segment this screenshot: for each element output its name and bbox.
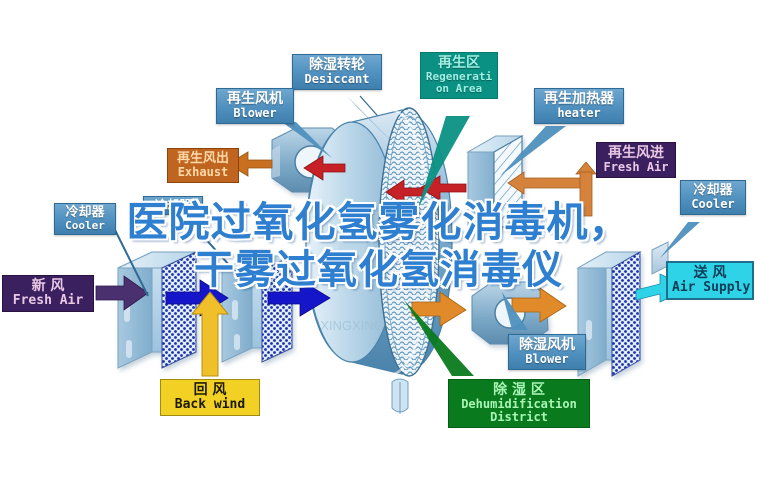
label-cooler-left-en: Cooler bbox=[58, 220, 112, 232]
watermark: XINGXING bbox=[320, 318, 384, 333]
label-regeneration-area-cn: 再生区 bbox=[424, 56, 494, 71]
label-fresh-air-en: Fresh Air bbox=[7, 294, 89, 308]
label-regen-fresh-air-en: Fresh Air bbox=[601, 161, 671, 174]
label-cooler-right[interactable]: 冷却器 Cooler bbox=[680, 180, 746, 215]
label-dehum-blower-en: Blower bbox=[513, 353, 581, 366]
diagram-canvas: XINGXING bbox=[0, 0, 757, 488]
label-desiccant-wheel-cn: 除湿转轮 bbox=[297, 58, 377, 73]
label-cooler-mid-cn: 冷却器 bbox=[147, 199, 199, 212]
label-back-wind-en: Back wind bbox=[165, 398, 255, 412]
label-regeneration-area[interactable]: 再生区 Regenerati on Area bbox=[420, 52, 498, 99]
label-regeneration-blower[interactable]: 再生风机 Blower bbox=[216, 88, 294, 124]
label-dehum-blower-cn: 除湿风机 bbox=[513, 338, 581, 353]
label-air-supply-en: Air Supply bbox=[672, 281, 748, 295]
cooler-unit-mid bbox=[222, 256, 292, 362]
label-exhaust-cn: 再生风出 bbox=[172, 152, 234, 166]
label-exhaust-en: Exhaust bbox=[172, 166, 234, 179]
label-cooler-right-en: Cooler bbox=[685, 198, 741, 211]
label-cooler-left[interactable]: 冷却器 Cooler bbox=[54, 203, 116, 235]
label-cooler-right-cn: 冷却器 bbox=[685, 184, 741, 198]
label-dehum-district-en2: District bbox=[453, 411, 585, 424]
label-fresh-air-cn: 新 风 bbox=[7, 279, 89, 294]
label-fresh-air-inlet[interactable]: 新 风 Fresh Air bbox=[2, 275, 94, 312]
label-regeneration-area-en2: on Area bbox=[424, 83, 494, 95]
label-regen-fresh-air-cn: 再生风进 bbox=[601, 146, 671, 161]
supply-filter-unit bbox=[578, 252, 640, 376]
label-regeneration-blower-cn: 再生风机 bbox=[221, 92, 289, 107]
label-dehumidification-district[interactable]: 除 湿 区 Dehumidification District bbox=[448, 379, 590, 428]
label-desiccant-wheel-en: Desiccant bbox=[297, 73, 377, 86]
label-back-wind[interactable]: 回 风 Back wind bbox=[160, 379, 260, 416]
label-back-wind-cn: 回 风 bbox=[165, 383, 255, 398]
label-air-supply[interactable]: 送 风 Air Supply bbox=[666, 261, 754, 300]
label-dehumidification-blower[interactable]: 除湿风机 Blower bbox=[508, 334, 586, 370]
label-regeneration-heater-en: heater bbox=[539, 107, 619, 120]
label-regeneration-fresh-air-in[interactable]: 再生风进 Fresh Air bbox=[596, 142, 676, 178]
label-regeneration-blower-en: Blower bbox=[221, 107, 289, 120]
label-regeneration-exhaust[interactable]: 再生风出 Exhaust bbox=[167, 148, 239, 183]
label-dehum-district-cn: 除 湿 区 bbox=[453, 383, 585, 398]
label-regeneration-heater[interactable]: 再生加热器 heater bbox=[534, 88, 624, 124]
label-desiccant-wheel[interactable]: 除湿转轮 Desiccant bbox=[292, 54, 382, 90]
label-regeneration-heater-cn: 再生加热器 bbox=[539, 92, 619, 107]
label-cooler-left-cn: 冷却器 bbox=[58, 206, 112, 220]
label-cooler-mid[interactable]: 冷却器 bbox=[143, 196, 203, 215]
label-air-supply-cn: 送 风 bbox=[672, 266, 748, 281]
